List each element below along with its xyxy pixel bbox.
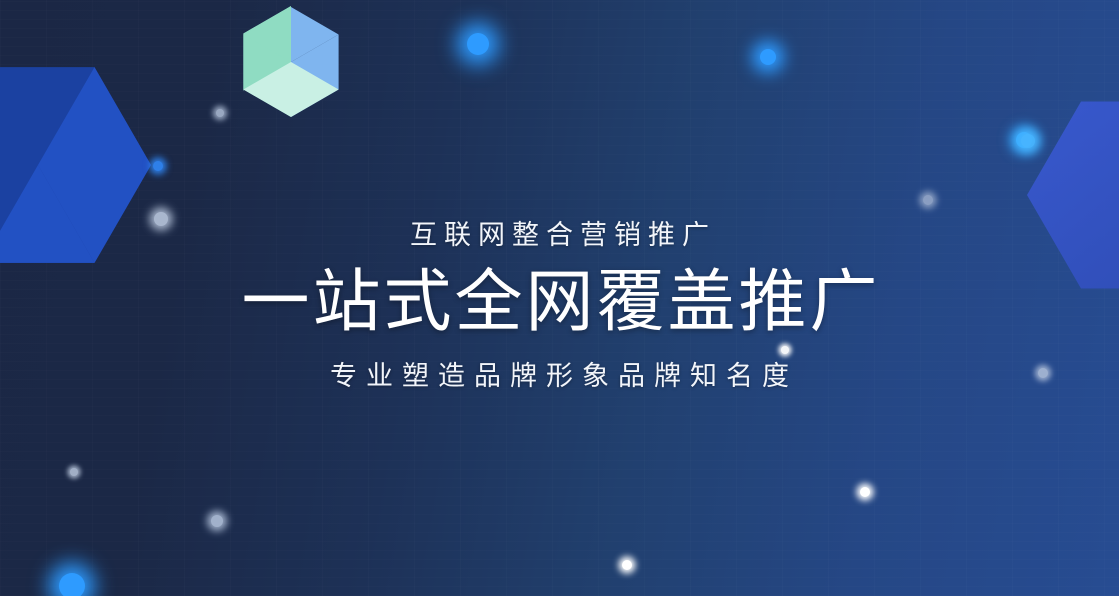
banner-text-block: 互联网整合营销推广 一站式全网覆盖推广 专业塑造品牌形象品牌知名度	[0, 222, 1119, 390]
page-title: 一站式全网覆盖推广	[0, 268, 1119, 336]
isometric-cube-logo	[243, 6, 338, 117]
particle-1	[467, 33, 489, 55]
particle-3	[1016, 132, 1032, 148]
tagline-bottom: 专业塑造品牌形象品牌知名度	[0, 363, 1119, 390]
particle-8	[923, 195, 933, 205]
particle-14	[622, 560, 632, 570]
promo-banner: 互联网整合营销推广 一站式全网覆盖推广 专业塑造品牌形象品牌知名度	[0, 0, 1119, 596]
tagline-top: 互联网整合营销推广	[0, 222, 1119, 249]
particle-15	[860, 487, 870, 497]
particle-4	[1021, 134, 1035, 148]
particle-6	[153, 161, 163, 171]
particle-11	[70, 468, 78, 476]
particle-13	[59, 573, 85, 596]
particle-12	[211, 515, 223, 527]
particle-5	[216, 109, 224, 117]
particle-2	[760, 49, 776, 65]
